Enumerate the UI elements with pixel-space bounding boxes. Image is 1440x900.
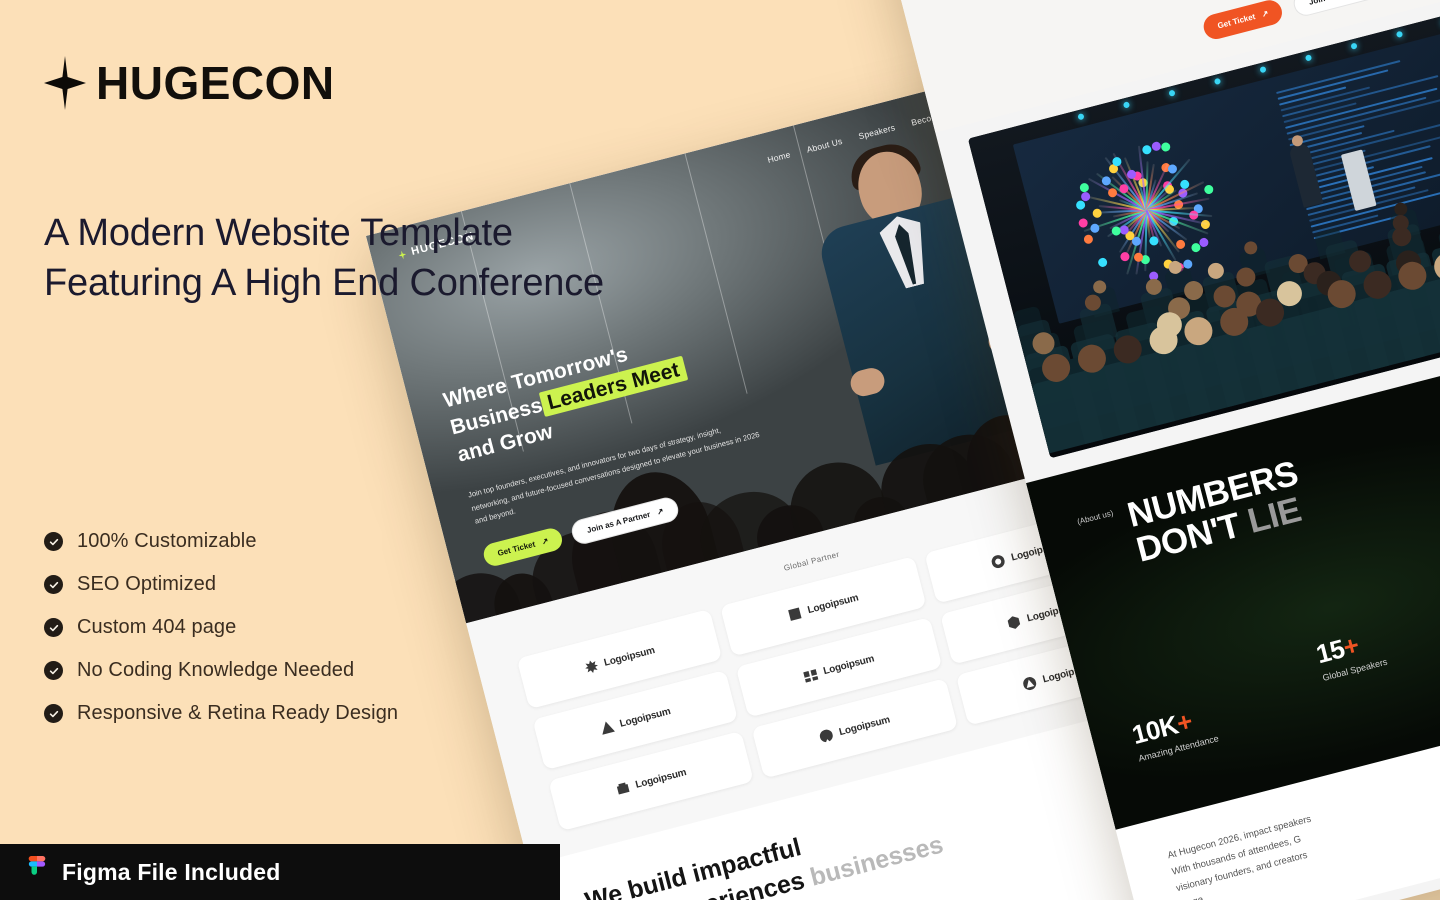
stat-item: 15+ Global Speakers [1313, 623, 1388, 682]
logoipsum-mark-icon [615, 780, 631, 796]
nav-item-about-us[interactable]: About Us [806, 136, 844, 155]
hero-join-partner-button[interactable]: Join as a Partner [1291, 0, 1389, 19]
nav-item-home[interactable]: Home [766, 149, 791, 165]
list-item: No Coding Knowledge Needed [44, 649, 604, 692]
mockup-stage: Hugecon Home About Us Speakers Become a … [0, 0, 1440, 900]
feature-list: 100% Customizable SEO Optimized Custom 4… [44, 520, 604, 735]
list-item: Custom 404 page [44, 606, 604, 649]
list-item: Responsive & Retina Ready Design [44, 692, 604, 735]
feature-label: Custom 404 page [77, 616, 236, 639]
hero-get-ticket-label: Get Ticket [1217, 12, 1257, 30]
logoipsum-mark-icon [990, 553, 1006, 569]
partner-logo-label: Logoipsum [806, 592, 859, 616]
logoipsum-mark-icon [1006, 614, 1022, 630]
check-circle-icon [44, 661, 63, 680]
headline-line2: Featuring A High End Conference [44, 258, 704, 308]
feature-label: Responsive & Retina Ready Design [77, 702, 398, 725]
figma-logo-icon [26, 856, 48, 888]
stat-item: 10K+ Amazing Attendance [1129, 700, 1220, 763]
list-item: 100% Customizable [44, 520, 604, 563]
nav-item-speakers[interactable]: Speakers [857, 122, 896, 141]
partner-logo-label: Logoipsum [838, 714, 891, 738]
brand-name: HUGECON [96, 60, 335, 106]
check-circle-icon [44, 618, 63, 637]
check-circle-icon [44, 704, 63, 723]
numbers-title: NUMBERS DON'T LIE [1124, 456, 1310, 569]
list-item: SEO Optimized [44, 563, 604, 606]
partner-logo-label: Logoipsum [603, 645, 656, 669]
logoipsum-mark-icon [818, 728, 834, 744]
logoipsum-mark-icon [787, 606, 803, 622]
hero-get-ticket-button[interactable]: Get Ticket ↗ [1201, 0, 1285, 42]
feature-label: 100% Customizable [77, 530, 257, 553]
figma-included-banner: Figma File Included [0, 844, 560, 900]
hero-join-partner-label: Join as a Partner [1308, 0, 1373, 7]
sparkle-star-icon [44, 56, 86, 110]
headline-line1: A Modern Website Template [44, 208, 704, 258]
partner-logo-label: Logoipsum [822, 653, 875, 677]
arrow-right-icon: ↗ [1261, 9, 1270, 19]
partner-logo-label: Logoipsum [618, 706, 671, 730]
feature-label: SEO Optimized [77, 573, 216, 596]
numbers-eyebrow: (About us) [1076, 509, 1114, 527]
brand-lockup: HUGECON [44, 56, 335, 110]
figma-included-label: Figma File Included [62, 859, 281, 886]
feature-label: No Coding Knowledge Needed [77, 659, 354, 682]
partner-logo-label: Logoipsum [634, 767, 687, 791]
logoipsum-mark-icon [1022, 675, 1038, 691]
arrow-right-icon: ↗ [656, 507, 665, 517]
page-title: A Modern Website Template Featuring A Hi… [44, 208, 704, 308]
check-circle-icon [44, 532, 63, 551]
logoipsum-mark-icon [803, 667, 819, 683]
check-circle-icon [44, 575, 63, 594]
